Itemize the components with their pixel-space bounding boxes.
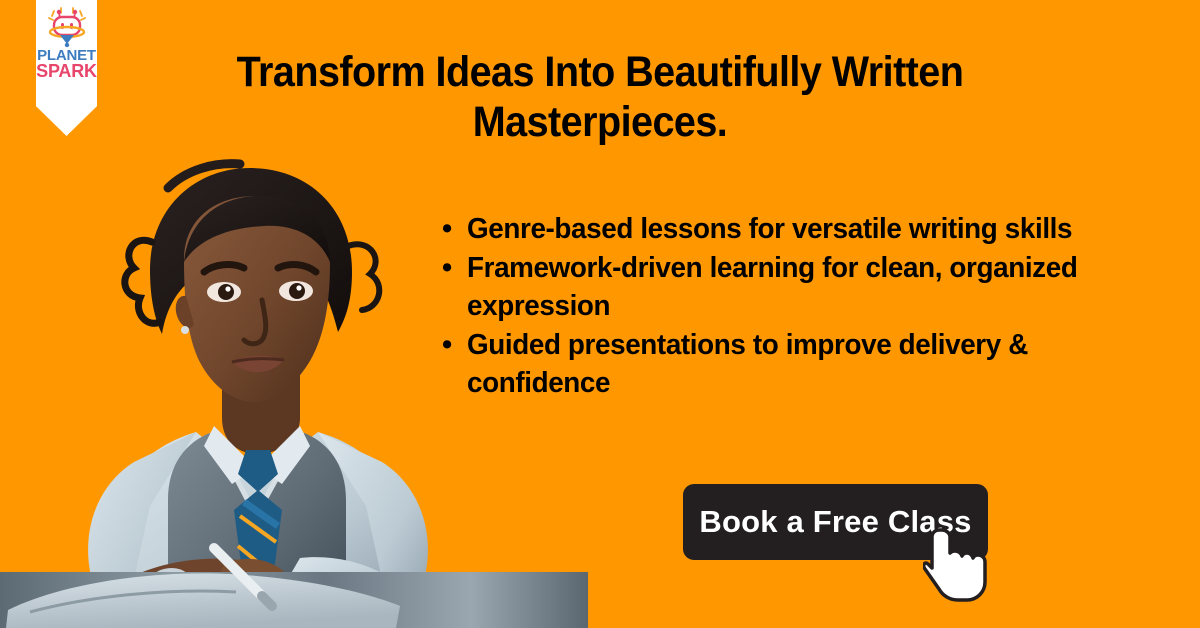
- book-free-class-button[interactable]: Book a Free Class: [683, 484, 988, 560]
- cta-label: Book a Free Class: [699, 504, 971, 540]
- bullet-text: Guided presentations to improve delivery…: [467, 326, 1125, 403]
- headline: Transform Ideas Into Beautifully Written…: [223, 47, 977, 148]
- planetspark-robot-icon: [44, 6, 90, 48]
- list-item: • Guided presentations to improve delive…: [442, 326, 1152, 403]
- logo-word-spark: SPARK: [36, 63, 97, 80]
- promotional-banner: PLANET SPARK Transform Ideas Into Beauti…: [0, 0, 1200, 628]
- bullet-marker-icon: •: [442, 249, 467, 288]
- bullet-text: Genre-based lessons for versatile writin…: [467, 210, 1125, 249]
- bullet-marker-icon: •: [442, 326, 467, 365]
- list-item: • Framework-driven learning for clean, o…: [442, 249, 1152, 326]
- cta-area: Book a Free Class: [683, 484, 988, 560]
- list-item: • Genre-based lessons for versatile writ…: [442, 210, 1152, 249]
- logo-wordmark: PLANET SPARK: [36, 49, 97, 80]
- feature-bullet-list: • Genre-based lessons for versatile writ…: [442, 210, 1152, 403]
- bullet-text: Framework-driven learning for clean, org…: [467, 249, 1125, 326]
- bullet-marker-icon: •: [442, 210, 467, 249]
- planetspark-logo[interactable]: PLANET SPARK: [36, 0, 97, 136]
